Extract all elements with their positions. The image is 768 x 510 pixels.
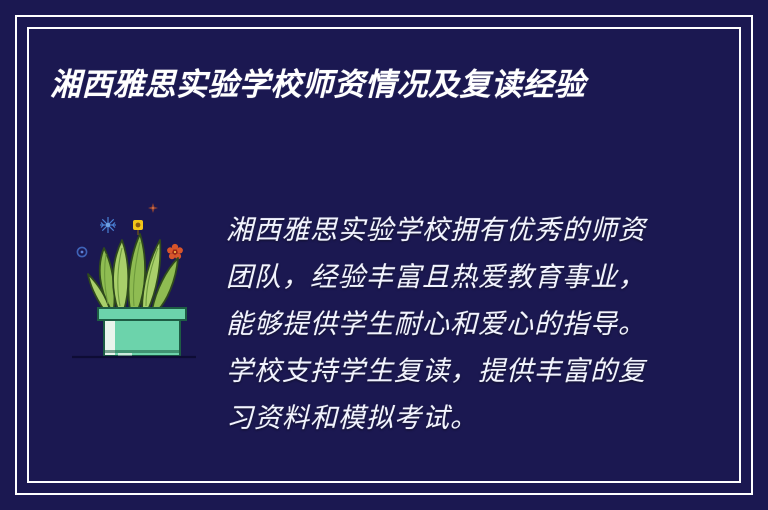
page-title: 湘西雅思实验学校师资情况及复读经验 xyxy=(50,60,650,110)
plant-leaves xyxy=(88,234,178,310)
orange-flower-sparkle xyxy=(167,244,183,259)
small-star-sparkle xyxy=(148,203,158,213)
body-paragraph: 湘西雅思实验学校拥有优秀的师资团队，经验丰富且热爱教育事业，能够提供学生耐心和爱… xyxy=(226,207,646,442)
potted-plant-illustration xyxy=(60,190,220,375)
snowflake-sparkle xyxy=(100,217,116,233)
poster-canvas: 湘西雅思实验学校师资情况及复读经验 xyxy=(0,0,768,510)
blue-ring-sparkle xyxy=(77,247,86,256)
plant-pot xyxy=(98,308,186,356)
yellow-flower-sparkle xyxy=(133,220,143,235)
